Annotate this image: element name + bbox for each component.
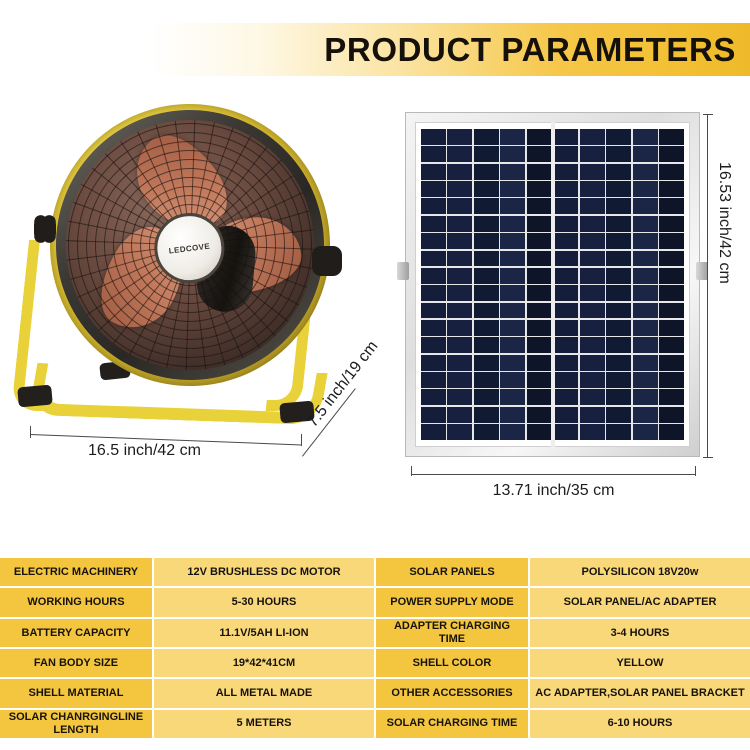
table-row: ADAPTER CHARGING TIME3-4 HOURS bbox=[376, 619, 750, 647]
table-row: BATTERY CAPACITY11.1V/5AH LI-ION bbox=[0, 619, 374, 647]
spec-label: POWER SUPPLY MODE bbox=[376, 588, 528, 616]
solar-cell bbox=[606, 198, 631, 214]
solar-cell bbox=[580, 424, 605, 440]
fan-illustration: LEDCOVE bbox=[12, 100, 382, 430]
solar-cell bbox=[527, 424, 552, 440]
brand-logo: LEDCOVE bbox=[168, 241, 210, 255]
solar-cell bbox=[421, 389, 446, 405]
solar-cell bbox=[447, 389, 472, 405]
solar-cell bbox=[500, 407, 525, 423]
solar-panel-height-dimension: 16.53 inch/42 cm bbox=[701, 112, 741, 460]
solar-cell bbox=[474, 424, 499, 440]
solar-cell bbox=[633, 198, 658, 214]
table-row: WORKING HOURS5-30 HOURS bbox=[0, 588, 374, 616]
solar-cell bbox=[527, 181, 552, 197]
spec-label: SOLAR PANELS bbox=[376, 558, 528, 586]
spec-value: 6-10 HOURS bbox=[530, 710, 750, 738]
solar-cell bbox=[527, 129, 552, 145]
table-row: ELECTRIC MACHINERY12V BRUSHLESS DC MOTOR bbox=[0, 558, 374, 586]
solar-cell bbox=[606, 146, 631, 162]
solar-cell bbox=[659, 337, 684, 353]
solar-cell bbox=[580, 251, 605, 267]
solar-cell bbox=[500, 233, 525, 249]
solar-cell bbox=[633, 337, 658, 353]
solar-cell bbox=[527, 372, 552, 388]
solar-cell bbox=[580, 216, 605, 232]
fan-foot-front-left bbox=[17, 385, 53, 408]
solar-cell bbox=[580, 129, 605, 145]
solar-cell bbox=[500, 372, 525, 388]
solar-cell bbox=[553, 355, 578, 371]
dimension-tick bbox=[695, 466, 696, 476]
solar-cell bbox=[474, 372, 499, 388]
solar-cell bbox=[474, 320, 499, 336]
solar-cell bbox=[633, 355, 658, 371]
solar-cell bbox=[659, 164, 684, 180]
solar-cell bbox=[421, 251, 446, 267]
solar-cell bbox=[580, 337, 605, 353]
specification-tables: ELECTRIC MACHINERY12V BRUSHLESS DC MOTOR… bbox=[0, 558, 750, 738]
solar-cell bbox=[421, 164, 446, 180]
solar-cell bbox=[580, 407, 605, 423]
dimension-tick bbox=[703, 457, 713, 458]
solar-cell bbox=[500, 216, 525, 232]
solar-cell bbox=[580, 181, 605, 197]
solar-cell bbox=[633, 233, 658, 249]
solar-cell bbox=[606, 251, 631, 267]
solar-cell bbox=[580, 355, 605, 371]
page-title: PRODUCT PARAMETERS bbox=[324, 27, 736, 73]
solar-cell bbox=[633, 407, 658, 423]
solar-cell bbox=[633, 285, 658, 301]
solar-cell bbox=[527, 146, 552, 162]
spec-value: ALL METAL MADE bbox=[154, 679, 374, 707]
spec-label: SHELL MATERIAL bbox=[0, 679, 152, 707]
solar-cell bbox=[580, 389, 605, 405]
solar-cell bbox=[421, 216, 446, 232]
solar-cell bbox=[421, 320, 446, 336]
solar-cell bbox=[659, 355, 684, 371]
solar-cell bbox=[606, 216, 631, 232]
solar-cell bbox=[474, 355, 499, 371]
solar-cell bbox=[606, 129, 631, 145]
solar-cell bbox=[421, 407, 446, 423]
solar-panel-height-label: 16.53 inch/42 cm bbox=[715, 162, 733, 284]
solar-cell bbox=[474, 164, 499, 180]
solar-cell bbox=[633, 389, 658, 405]
solar-cell bbox=[659, 407, 684, 423]
spec-value: POLYSILICON 18V20w bbox=[530, 558, 750, 586]
solar-cell bbox=[659, 268, 684, 284]
solar-cell bbox=[580, 320, 605, 336]
solar-cell bbox=[659, 320, 684, 336]
solar-panel-product-image: 13.71 inch/35 cm 16.53 inch/42 cm bbox=[405, 112, 735, 512]
solar-cell bbox=[474, 129, 499, 145]
solar-cell bbox=[527, 164, 552, 180]
spec-value: SOLAR PANEL/AC ADAPTER bbox=[530, 588, 750, 616]
spec-label: BATTERY CAPACITY bbox=[0, 619, 152, 647]
product-image-area: LEDCOVE 16.5 inch/42 cm 7.5 inch/19 cm bbox=[0, 90, 750, 550]
solar-cell bbox=[421, 303, 446, 319]
solar-cell bbox=[659, 146, 684, 162]
solar-cell bbox=[580, 164, 605, 180]
solar-cell bbox=[659, 216, 684, 232]
solar-cell bbox=[606, 303, 631, 319]
solar-cell bbox=[447, 164, 472, 180]
solar-cell bbox=[606, 372, 631, 388]
spec-value: 19*42*41CM bbox=[154, 649, 374, 677]
solar-cell bbox=[474, 181, 499, 197]
solar-cell bbox=[500, 320, 525, 336]
solar-cell bbox=[606, 407, 631, 423]
solar-cell bbox=[527, 320, 552, 336]
spec-label: ADAPTER CHARGING TIME bbox=[376, 619, 528, 647]
solar-cell bbox=[500, 129, 525, 145]
solar-panel-busbar bbox=[551, 122, 555, 447]
table-row: SOLAR CHANRGINGLINE LENGTH5 METERS bbox=[0, 710, 374, 738]
solar-cell bbox=[447, 337, 472, 353]
solar-cell bbox=[500, 424, 525, 440]
solar-cell bbox=[553, 233, 578, 249]
solar-cell bbox=[606, 233, 631, 249]
solar-cell bbox=[633, 181, 658, 197]
solar-cell bbox=[527, 337, 552, 353]
solar-cell bbox=[633, 268, 658, 284]
solar-cell bbox=[633, 164, 658, 180]
solar-cell bbox=[500, 355, 525, 371]
spec-label: OTHER ACCESSORIES bbox=[376, 679, 528, 707]
solar-cell bbox=[500, 285, 525, 301]
solar-cell bbox=[447, 181, 472, 197]
solar-cell bbox=[633, 424, 658, 440]
spec-label: SHELL COLOR bbox=[376, 649, 528, 677]
solar-cell bbox=[500, 181, 525, 197]
solar-cell bbox=[580, 146, 605, 162]
spec-label: WORKING HOURS bbox=[0, 588, 152, 616]
table-row: OTHER ACCESSORIESAC ADAPTER,SOLAR PANEL … bbox=[376, 679, 750, 707]
solar-cell bbox=[421, 233, 446, 249]
solar-cell bbox=[421, 355, 446, 371]
fan-product-image: LEDCOVE 16.5 inch/42 cm 7.5 inch/19 cm bbox=[12, 100, 382, 500]
solar-cell bbox=[421, 146, 446, 162]
solar-cell bbox=[447, 285, 472, 301]
solar-cell bbox=[606, 355, 631, 371]
solar-cell bbox=[553, 129, 578, 145]
spec-label: SOLAR CHARGING TIME bbox=[376, 710, 528, 738]
fan-width-dimension: 16.5 inch/42 cm bbox=[30, 430, 302, 456]
spec-value: AC ADAPTER,SOLAR PANEL BRACKET bbox=[530, 679, 750, 707]
spec-label: ELECTRIC MACHINERY bbox=[0, 558, 152, 586]
spec-value: 11.1V/5AH LI-ION bbox=[154, 619, 374, 647]
fan-depth-dimension: 7.5 inch/19 cm bbox=[298, 400, 408, 490]
solar-cell bbox=[659, 198, 684, 214]
spec-value: YELLOW bbox=[530, 649, 750, 677]
solar-cell bbox=[447, 198, 472, 214]
solar-cell bbox=[553, 424, 578, 440]
solar-cell bbox=[500, 268, 525, 284]
solar-cell bbox=[447, 146, 472, 162]
solar-cell bbox=[527, 198, 552, 214]
solar-cell bbox=[580, 268, 605, 284]
solar-cell bbox=[447, 129, 472, 145]
solar-cell bbox=[421, 198, 446, 214]
table-row: SOLAR CHARGING TIME6-10 HOURS bbox=[376, 710, 750, 738]
solar-cell bbox=[606, 181, 631, 197]
solar-cell bbox=[553, 198, 578, 214]
solar-cell bbox=[447, 233, 472, 249]
table-row: POWER SUPPLY MODESOLAR PANEL/AC ADAPTER bbox=[376, 588, 750, 616]
solar-cell bbox=[553, 372, 578, 388]
solar-panel-width-dimension: 13.71 inch/35 cm bbox=[411, 468, 696, 498]
solar-cell bbox=[580, 198, 605, 214]
solar-cell bbox=[580, 372, 605, 388]
solar-cell bbox=[580, 303, 605, 319]
solar-cell bbox=[553, 181, 578, 197]
solar-cell bbox=[447, 407, 472, 423]
solar-cell bbox=[527, 303, 552, 319]
solar-cell bbox=[553, 285, 578, 301]
dimension-tick bbox=[30, 426, 31, 438]
spec-table-left: ELECTRIC MACHINERY12V BRUSHLESS DC MOTOR… bbox=[0, 558, 374, 738]
fan-cage-face: LEDCOVE bbox=[52, 106, 329, 384]
solar-cell bbox=[606, 389, 631, 405]
spec-label: FAN BODY SIZE bbox=[0, 649, 152, 677]
solar-cell bbox=[553, 407, 578, 423]
solar-cell bbox=[633, 372, 658, 388]
dimension-line bbox=[707, 114, 708, 458]
solar-cell bbox=[659, 285, 684, 301]
dimension-line bbox=[411, 474, 696, 475]
solar-cell bbox=[500, 164, 525, 180]
solar-cell bbox=[553, 268, 578, 284]
solar-cell bbox=[500, 251, 525, 267]
table-row: FAN BODY SIZE19*42*41CM bbox=[0, 649, 374, 677]
solar-cell bbox=[527, 251, 552, 267]
solar-cell bbox=[659, 389, 684, 405]
solar-cell bbox=[606, 424, 631, 440]
solar-cell bbox=[633, 216, 658, 232]
solar-cell bbox=[421, 424, 446, 440]
table-row: SHELL MATERIALALL METAL MADE bbox=[0, 679, 374, 707]
solar-cell bbox=[553, 320, 578, 336]
solar-cell bbox=[659, 233, 684, 249]
solar-cell bbox=[659, 424, 684, 440]
solar-cell bbox=[447, 355, 472, 371]
solar-cell bbox=[606, 337, 631, 353]
solar-cell bbox=[447, 268, 472, 284]
solar-cell bbox=[659, 251, 684, 267]
solar-cell bbox=[527, 389, 552, 405]
solar-cell bbox=[447, 372, 472, 388]
solar-cell bbox=[421, 285, 446, 301]
spec-value: 5-30 HOURS bbox=[154, 588, 374, 616]
solar-cell bbox=[421, 181, 446, 197]
solar-panel-bracket-left bbox=[397, 262, 409, 280]
solar-cell bbox=[474, 389, 499, 405]
solar-cell bbox=[421, 129, 446, 145]
solar-cell bbox=[633, 251, 658, 267]
solar-cell bbox=[474, 303, 499, 319]
fan-tilt-knob-left bbox=[34, 218, 56, 240]
spec-value: 3-4 HOURS bbox=[530, 619, 750, 647]
solar-cell bbox=[580, 233, 605, 249]
solar-cell bbox=[474, 251, 499, 267]
solar-cell bbox=[474, 216, 499, 232]
solar-cell bbox=[447, 216, 472, 232]
fan-tilt-knob-right bbox=[312, 246, 342, 276]
solar-cell bbox=[500, 146, 525, 162]
solar-cell bbox=[606, 285, 631, 301]
solar-cell bbox=[447, 424, 472, 440]
solar-cell bbox=[633, 320, 658, 336]
solar-cell bbox=[527, 216, 552, 232]
solar-cell bbox=[500, 303, 525, 319]
solar-cell bbox=[474, 337, 499, 353]
product-parameters-page: PRODUCT PARAMETERS bbox=[0, 0, 750, 750]
solar-cell bbox=[527, 268, 552, 284]
solar-cell bbox=[553, 251, 578, 267]
spec-label: SOLAR CHANRGINGLINE LENGTH bbox=[0, 710, 152, 738]
solar-cell bbox=[447, 320, 472, 336]
solar-cell bbox=[553, 389, 578, 405]
solar-cell bbox=[474, 198, 499, 214]
solar-cell bbox=[527, 233, 552, 249]
solar-cell bbox=[553, 164, 578, 180]
solar-cell bbox=[500, 337, 525, 353]
solar-cell bbox=[527, 407, 552, 423]
fan-width-label: 16.5 inch/42 cm bbox=[88, 442, 201, 460]
solar-cell bbox=[606, 164, 631, 180]
solar-cell bbox=[447, 251, 472, 267]
solar-cell bbox=[527, 285, 552, 301]
solar-cell bbox=[500, 389, 525, 405]
solar-cell bbox=[421, 372, 446, 388]
solar-cell bbox=[659, 372, 684, 388]
solar-cell bbox=[447, 303, 472, 319]
spec-value: 5 METERS bbox=[154, 710, 374, 738]
solar-cell bbox=[659, 129, 684, 145]
solar-cell bbox=[606, 320, 631, 336]
solar-cell bbox=[553, 216, 578, 232]
solar-cell bbox=[553, 303, 578, 319]
solar-cell bbox=[474, 407, 499, 423]
solar-cell bbox=[633, 146, 658, 162]
solar-cell bbox=[527, 355, 552, 371]
solar-cell bbox=[421, 268, 446, 284]
solar-panel-width-label: 13.71 inch/35 cm bbox=[411, 482, 696, 500]
table-row: SOLAR PANELSPOLYSILICON 18V20w bbox=[376, 558, 750, 586]
fan-head: LEDCOVE bbox=[34, 88, 346, 402]
solar-cell bbox=[474, 233, 499, 249]
solar-panel-frame bbox=[405, 112, 700, 457]
solar-cell bbox=[474, 146, 499, 162]
solar-cell bbox=[474, 268, 499, 284]
solar-cell bbox=[633, 303, 658, 319]
solar-cell bbox=[606, 268, 631, 284]
spec-value: 12V BRUSHLESS DC MOTOR bbox=[154, 558, 374, 586]
solar-cell bbox=[633, 129, 658, 145]
spec-table-right: SOLAR PANELSPOLYSILICON 18V20wPOWER SUPP… bbox=[376, 558, 750, 738]
solar-cell bbox=[659, 181, 684, 197]
solar-cell bbox=[421, 337, 446, 353]
solar-cell bbox=[659, 303, 684, 319]
solar-cell bbox=[580, 285, 605, 301]
solar-cell bbox=[500, 198, 525, 214]
solar-cell bbox=[553, 146, 578, 162]
dimension-tick bbox=[703, 114, 713, 115]
solar-cell bbox=[474, 285, 499, 301]
solar-cell bbox=[553, 337, 578, 353]
table-row: SHELL COLORYELLOW bbox=[376, 649, 750, 677]
